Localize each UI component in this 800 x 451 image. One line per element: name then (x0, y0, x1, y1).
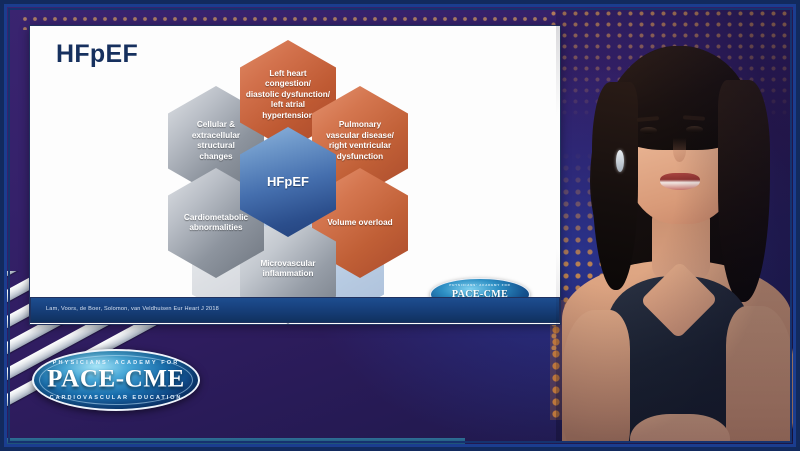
video-frame: HFpEF Cellular & extracellular structura… (0, 0, 800, 451)
inner-frame-border (8, 8, 792, 443)
